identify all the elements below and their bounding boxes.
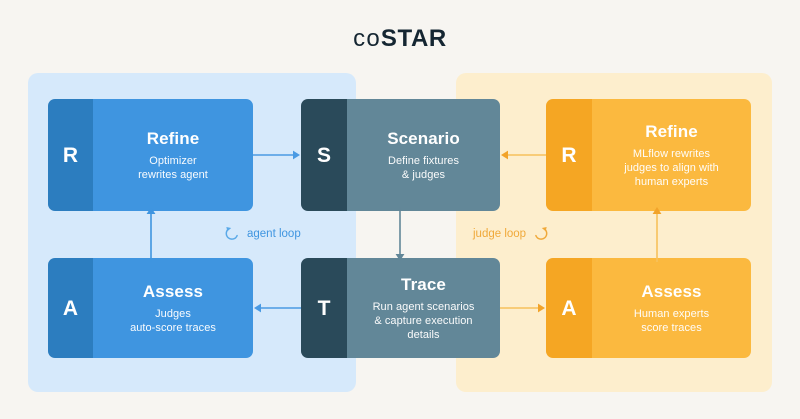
card-subtitle-line: judges to align with bbox=[624, 161, 719, 175]
arrow-trace-to-assess-judge-icon bbox=[500, 300, 546, 316]
arrow-assess-agent-to-refine-agent-icon bbox=[143, 206, 159, 262]
card-subtitle-line: & judges bbox=[388, 168, 459, 182]
card-body: Refine MLflow rewrites judges to align w… bbox=[592, 99, 751, 211]
card-badge-letter: R bbox=[546, 99, 592, 211]
arrow-scenario-to-trace-icon bbox=[392, 207, 408, 262]
judge-loop-label: judge loop bbox=[473, 227, 526, 241]
card-title: Assess bbox=[641, 281, 701, 302]
circular-arrow-icon bbox=[224, 226, 240, 242]
judge-loop-label-group: judge loop bbox=[473, 226, 549, 242]
card-subtitle-line: Judges bbox=[130, 307, 216, 321]
arrow-refine-agent-to-scenario-icon bbox=[253, 147, 301, 163]
card-subtitle: Optimizer rewrites agent bbox=[138, 154, 208, 182]
card-badge-letter: T bbox=[301, 258, 347, 358]
card-subtitle: MLflow rewrites judges to align with hum… bbox=[624, 147, 719, 189]
page-title-prefix: co bbox=[353, 25, 381, 52]
card-body: Assess Judges auto-score traces bbox=[93, 258, 253, 358]
card-subtitle-line: details bbox=[373, 328, 475, 342]
card-subtitle-line: & capture execution bbox=[373, 314, 475, 328]
card-body: Assess Human experts score traces bbox=[592, 258, 751, 358]
card-badge-letter: R bbox=[48, 99, 93, 211]
card-assess-agent[interactable]: A Assess Judges auto-score traces bbox=[48, 258, 253, 358]
card-scenario[interactable]: S Scenario Define fixtures & judges bbox=[301, 99, 500, 211]
card-subtitle-line: Human experts bbox=[634, 307, 709, 321]
page-title-main: STAR bbox=[381, 25, 447, 52]
card-subtitle-line: Define fixtures bbox=[388, 154, 459, 168]
card-subtitle-line: Optimizer bbox=[138, 154, 208, 168]
arrow-refine-judge-to-scenario-icon bbox=[500, 147, 546, 163]
card-title: Assess bbox=[143, 281, 203, 302]
card-badge-letter: S bbox=[301, 99, 347, 211]
card-subtitle: Define fixtures & judges bbox=[388, 154, 459, 182]
card-badge-letter: A bbox=[546, 258, 592, 358]
card-assess-judge[interactable]: A Assess Human experts score traces bbox=[546, 258, 751, 358]
page-title: coSTAR bbox=[0, 24, 800, 54]
card-badge-letter: A bbox=[48, 258, 93, 358]
circular-arrow-icon bbox=[533, 226, 549, 242]
card-title: Scenario bbox=[387, 128, 460, 149]
card-subtitle: Human experts score traces bbox=[634, 307, 709, 335]
card-subtitle: Run agent scenarios & capture execution … bbox=[373, 300, 475, 342]
card-subtitle-line: human experts bbox=[624, 175, 719, 189]
card-subtitle-line: score traces bbox=[634, 321, 709, 335]
card-refine-judge[interactable]: R Refine MLflow rewrites judges to align… bbox=[546, 99, 751, 211]
card-title: Refine bbox=[645, 121, 698, 142]
card-title: Refine bbox=[147, 128, 200, 149]
arrow-assess-judge-to-refine-judge-icon bbox=[649, 206, 665, 262]
card-trace[interactable]: T Trace Run agent scenarios & capture ex… bbox=[301, 258, 500, 358]
card-subtitle-line: Run agent scenarios bbox=[373, 300, 475, 314]
arrow-trace-to-assess-agent-icon bbox=[253, 300, 301, 316]
card-title: Trace bbox=[401, 274, 446, 295]
card-body: Trace Run agent scenarios & capture exec… bbox=[347, 258, 500, 358]
card-subtitle-line: rewrites agent bbox=[138, 168, 208, 182]
card-refine-agent[interactable]: R Refine Optimizer rewrites agent bbox=[48, 99, 253, 211]
agent-loop-label-group: agent loop bbox=[224, 226, 301, 242]
agent-loop-label: agent loop bbox=[247, 227, 301, 241]
card-body: Refine Optimizer rewrites agent bbox=[93, 99, 253, 211]
card-subtitle-line: MLflow rewrites bbox=[624, 147, 719, 161]
card-body: Scenario Define fixtures & judges bbox=[347, 99, 500, 211]
card-subtitle-line: auto-score traces bbox=[130, 321, 216, 335]
card-subtitle: Judges auto-score traces bbox=[130, 307, 216, 335]
